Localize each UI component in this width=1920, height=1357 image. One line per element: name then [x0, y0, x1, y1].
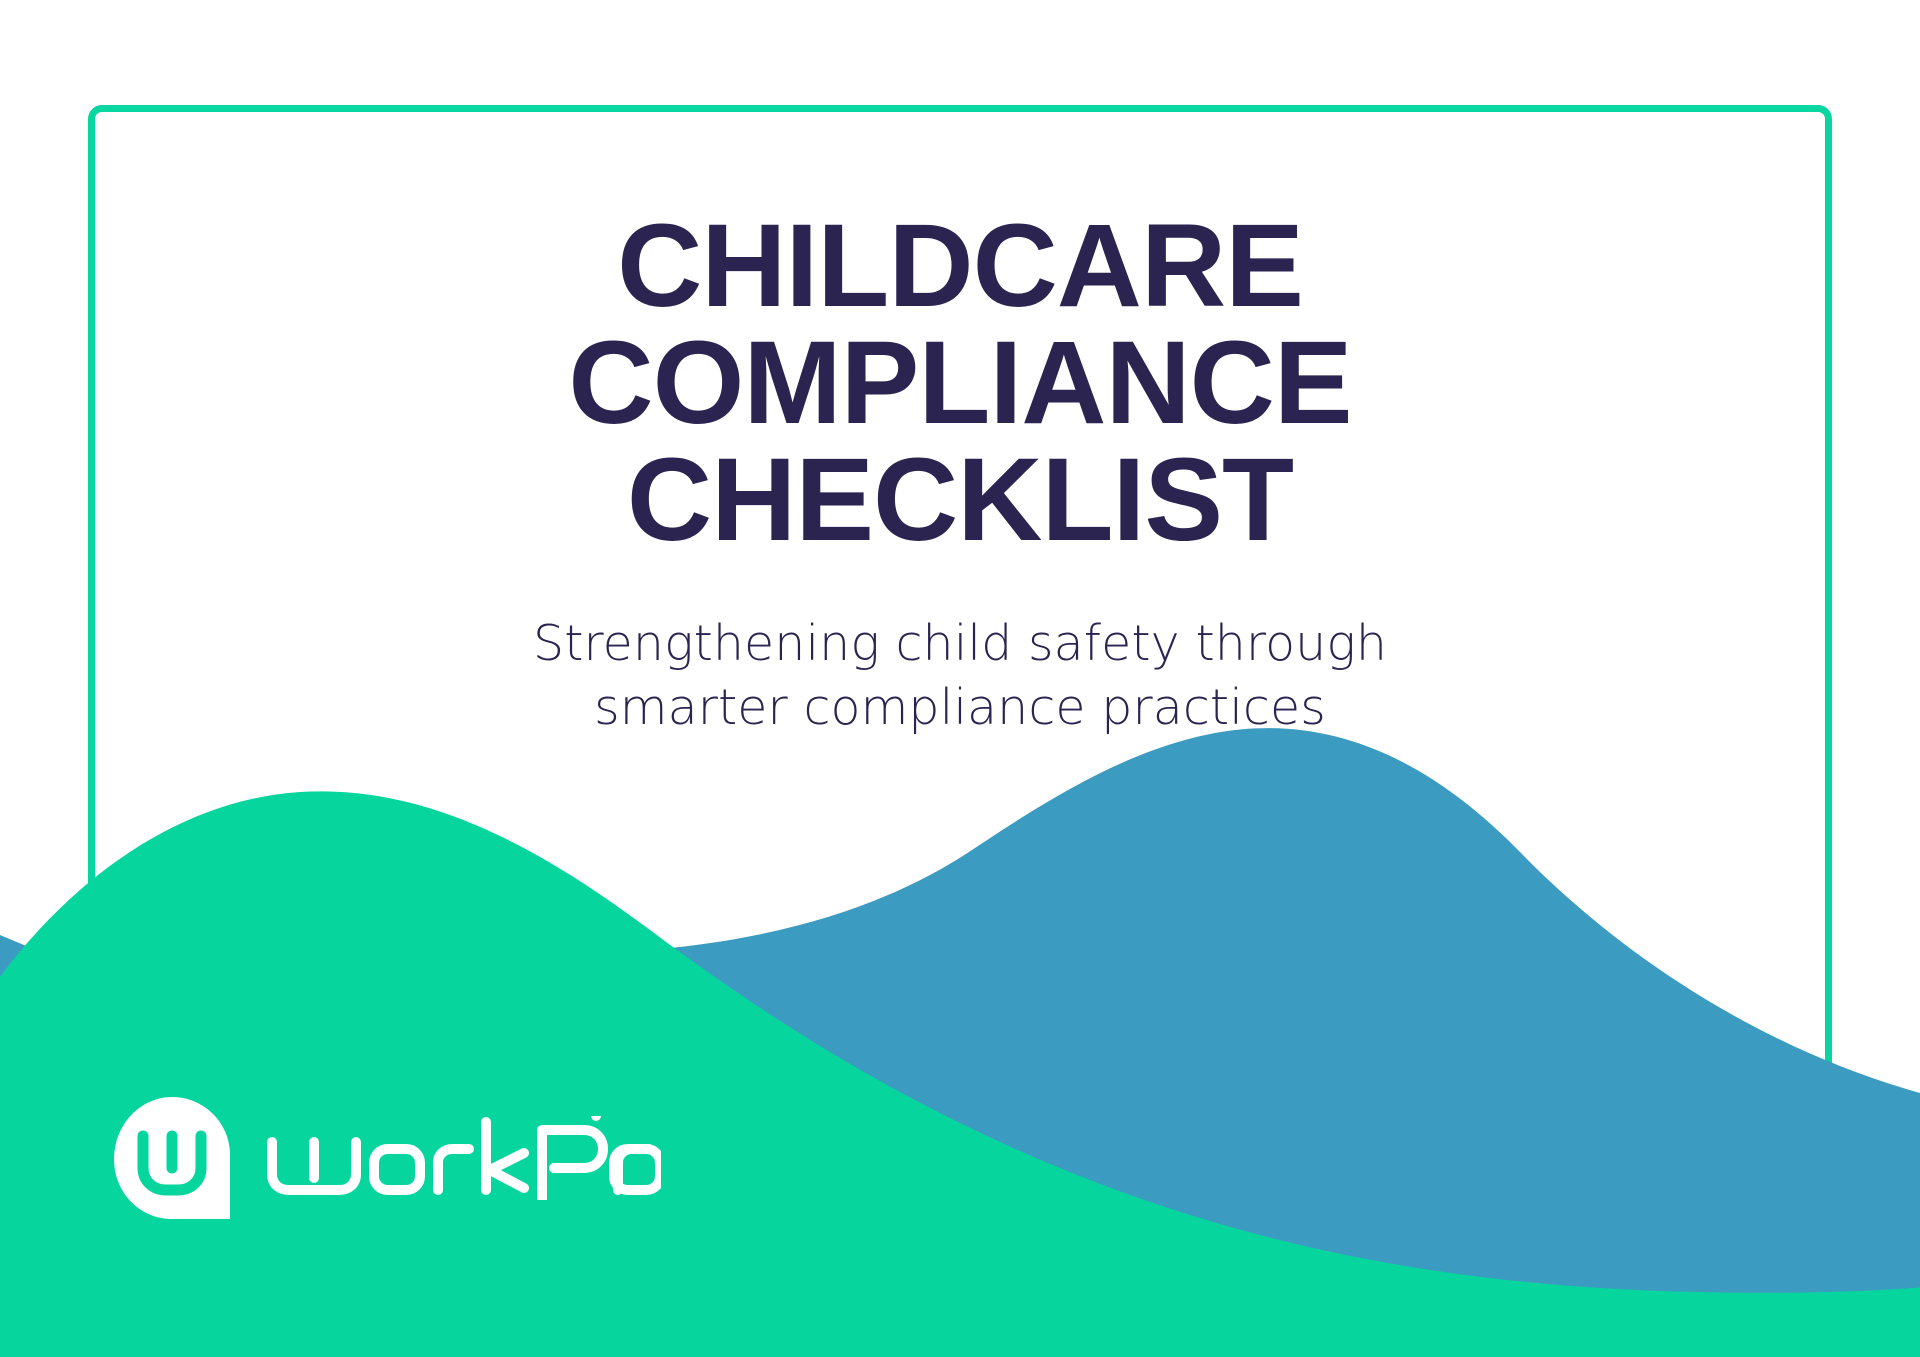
brand-logo-lockup [112, 1095, 661, 1221]
brand-wordmark [266, 1116, 661, 1200]
rounded-green-border-frame [88, 105, 1832, 1203]
workpro-bubble-w-logomark [112, 1095, 232, 1221]
cover-slide: CHILDCARE COMPLIANCE CHECKLIST Strengthe… [0, 0, 1920, 1357]
